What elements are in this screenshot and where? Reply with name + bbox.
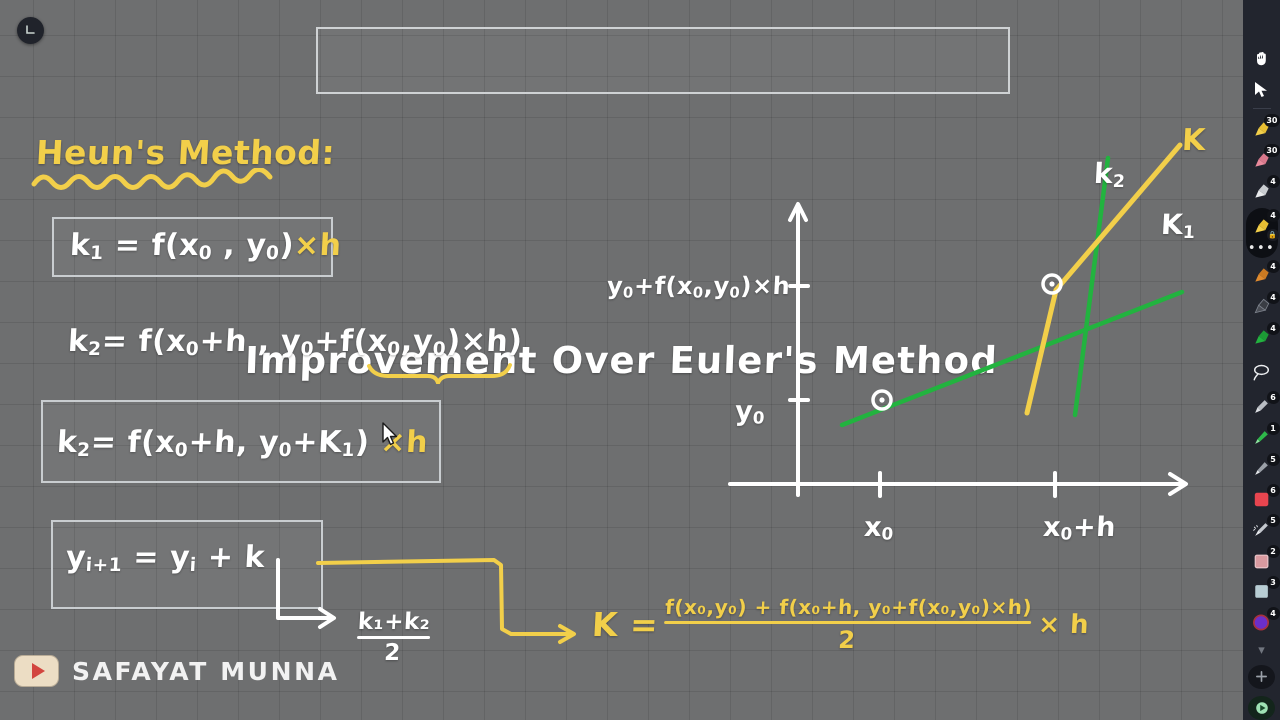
point-marker-end-dot xyxy=(1049,281,1054,286)
yellow-underbrace xyxy=(366,362,516,384)
equation-k2-simplified: k2= f(x0+h, y0+K1) ×h xyxy=(56,425,429,461)
pen-gray[interactable]: 5 xyxy=(1247,455,1277,482)
k-formula-fraction: f(x₀,y₀) + f(x₀+h, y₀+f(x₀,y₀)×h) 2 xyxy=(663,596,1033,653)
yellow-connector-line xyxy=(316,555,616,660)
channel-name: SAFAYAT MUNNA xyxy=(72,657,340,686)
y-axis-label-upper: y0+f(x0,y0)×h xyxy=(606,272,791,301)
tool-badge: 30 xyxy=(1264,144,1279,157)
pen-yellow[interactable]: 30 xyxy=(1247,116,1277,143)
k-formula-bar xyxy=(664,621,1031,624)
equation-k2-yellow: ×h xyxy=(380,425,429,460)
tool-badge: 5 xyxy=(1267,453,1280,466)
tool-badge: 2 xyxy=(1267,545,1280,558)
k-formula-denominator: 2 xyxy=(663,627,1031,653)
shape-red[interactable]: 6 xyxy=(1247,486,1277,513)
tool-badge: 1 xyxy=(1267,422,1280,435)
chevron-down-icon[interactable]: ▾ xyxy=(1258,643,1265,658)
right-toolbar[interactable]: 30 30 4 4 🔒 ••• xyxy=(1243,0,1280,720)
lasso-icon xyxy=(1252,364,1271,381)
equation-k1-white: k1 = f(x0 , y0) xyxy=(69,228,295,263)
cursor-icon xyxy=(1254,81,1269,98)
x-axis-label-x0: x0 xyxy=(863,512,895,544)
lock-icon: 🔒 xyxy=(1267,229,1279,241)
tool-badge: 4 xyxy=(1267,291,1280,304)
tool-badge: 4 xyxy=(1267,607,1280,620)
record-icon xyxy=(1254,700,1270,716)
screen-root: Improvement Over Euler's Method Heun's M… xyxy=(0,0,1280,720)
tool-badge: 30 xyxy=(1264,114,1279,127)
equation-k1: k1 = f(x0 , y0)×h xyxy=(69,228,342,264)
hand-icon xyxy=(1253,49,1271,67)
sparkle-tool[interactable]: 5 xyxy=(1247,516,1277,543)
pen-green[interactable]: 4 xyxy=(1247,324,1277,351)
final-k-formula: K = f(x₀,y₀) + f(x₀+h, y₀+f(x₀,y₀)×h) 2 … xyxy=(590,596,1090,653)
point-marker-start-dot xyxy=(879,397,884,402)
k-formula-tail: × h xyxy=(1037,610,1089,640)
x-axis-label-x0h: x0+h xyxy=(1042,512,1117,544)
graph-label-k2: k2 xyxy=(1093,157,1127,192)
select-tool[interactable] xyxy=(1247,76,1277,103)
section-heading: Heun's Method: xyxy=(35,133,336,172)
shape-blue[interactable]: 3 xyxy=(1247,578,1277,605)
k-formula-numerator: f(x₀,y₀) + f(x₀+h, y₀+f(x₀,y₀)×h) xyxy=(665,596,1033,618)
pen-pink[interactable]: 30 xyxy=(1247,146,1277,173)
equation-update: yi+1 = yi + k xyxy=(65,540,266,576)
tool-badge: 4 xyxy=(1267,175,1280,188)
pen-green-2[interactable]: 1 xyxy=(1247,424,1277,451)
graph-label-k: K xyxy=(1181,123,1207,158)
tool-badge: 6 xyxy=(1267,484,1280,497)
green-line-k1 xyxy=(842,292,1182,425)
equation-k2-white: k2= f(x0+h, y0+K1) xyxy=(56,425,381,460)
lasso-tool[interactable] xyxy=(1247,359,1277,386)
equation-k1-yellow: ×h xyxy=(293,228,342,263)
pen-thin-white[interactable]: 6 xyxy=(1247,393,1277,420)
plus-icon xyxy=(1255,670,1268,683)
whiteboard-canvas[interactable]: Improvement Over Euler's Method Heun's M… xyxy=(0,0,1243,720)
graph-label-k1: K1 xyxy=(1160,208,1197,243)
add-button[interactable] xyxy=(1248,665,1275,689)
tool-badge: 6 xyxy=(1267,391,1280,404)
tool-badge: 3 xyxy=(1267,576,1280,589)
heading-underline-squiggle xyxy=(30,168,280,194)
record-button[interactable] xyxy=(1248,696,1275,720)
equation-k2-expanded: k2= f(x0+h , y0+f(x0,y0)×h) xyxy=(67,324,523,360)
color-purple[interactable]: 4 xyxy=(1247,609,1277,636)
green-line-k2 xyxy=(1075,158,1108,415)
toolbar-separator xyxy=(1253,108,1271,109)
tool-badge: 4 xyxy=(1267,322,1280,335)
hand-tool[interactable] xyxy=(1247,45,1277,72)
tool-badge: 5 xyxy=(1267,514,1280,527)
watermark: SAFAYAT MUNNA xyxy=(14,655,340,687)
k-formula-label: K = xyxy=(591,605,659,644)
youtube-play-icon xyxy=(14,655,59,687)
tool-badge: 4 xyxy=(1267,209,1280,222)
y-axis-label-lower: y0 xyxy=(734,396,766,428)
pen-orange[interactable]: 4 xyxy=(1247,262,1277,289)
pen-white[interactable]: 4 xyxy=(1247,177,1277,204)
shape-pink[interactable]: 2 xyxy=(1247,547,1277,574)
graph-axes-and-lines xyxy=(720,120,1220,520)
pen-more-options-button[interactable]: ••• xyxy=(1248,243,1275,254)
play-triangle xyxy=(32,663,45,679)
pen-yellow-selected[interactable]: 4 🔒 ••• xyxy=(1246,208,1278,258)
pen-dark[interactable]: 4 xyxy=(1247,293,1277,320)
tool-badge: 4 xyxy=(1267,260,1280,273)
